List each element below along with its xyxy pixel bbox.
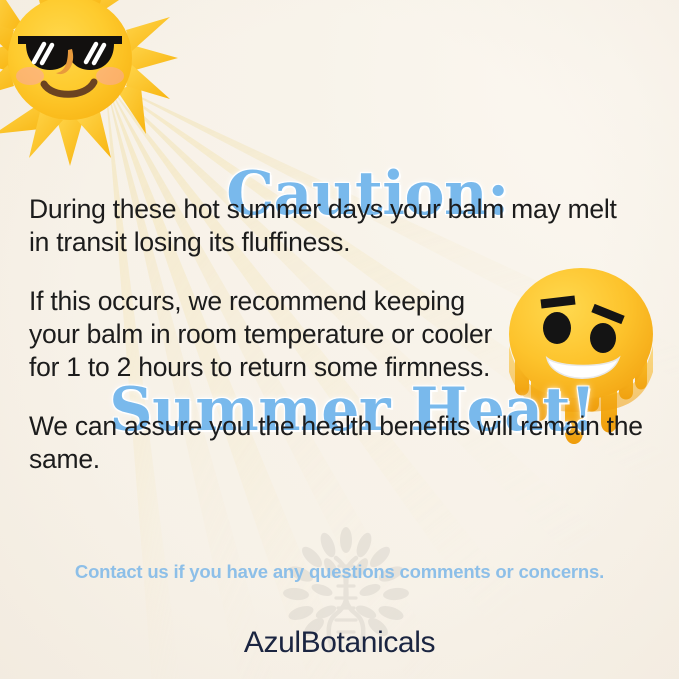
paragraph-recommendation: If this occurs, we recommend keeping you… [29, 285, 516, 384]
paragraph-assurance: We can assure you the health benefits wi… [29, 410, 649, 476]
body-copy: During these hot summer days your balm m… [29, 193, 649, 476]
brand-name: AzulBotanicals [0, 624, 679, 662]
contact-us-line[interactable]: Contact us if you have any questions com… [0, 560, 679, 584]
summer-heat-notice-poster: Caution: Summer Heat! During these hot s… [0, 0, 679, 679]
paragraph-melt-warning: During these hot summer days your balm m… [29, 193, 629, 259]
